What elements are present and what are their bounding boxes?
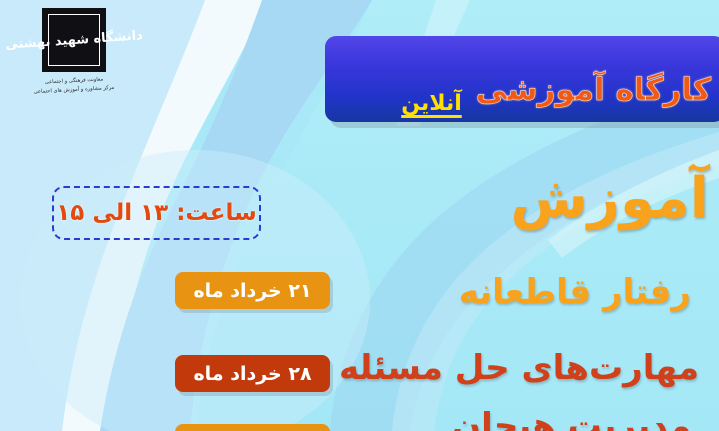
- university-logo-block: دانشگاه شهید بهشتی معاونت فرهنگی و اجتما…: [18, 8, 130, 94]
- banner-main-title: کارگاه آموزشی: [476, 72, 711, 108]
- workshop-poster: دانشگاه شهید بهشتی معاونت فرهنگی و اجتما…: [0, 0, 719, 431]
- university-seal-icon: دانشگاه شهید بهشتی: [42, 8, 106, 72]
- date-chip-2-label: ۲۸ خرداد ماه: [193, 363, 311, 385]
- time-label: ساعت: ۱۳ الی ۱۵: [56, 200, 257, 226]
- topic-heading-0: آموزش: [511, 166, 710, 231]
- seal-script-text: دانشگاه شهید بهشتی: [42, 8, 106, 72]
- topic-heading-3: مدیریت هیجان: [452, 406, 691, 431]
- banner-sub-title: آنلاین: [401, 91, 462, 116]
- topic-heading-2: مهارت‌های حل مسئله: [339, 348, 699, 388]
- date-chip-1: ۲۱ خرداد ماه: [175, 272, 330, 309]
- time-box: ساعت: ۱۳ الی ۱۵: [52, 186, 261, 240]
- date-chip-3: ۴ تیر ماه: [175, 424, 330, 431]
- date-chip-2: ۲۸ خرداد ماه: [175, 355, 330, 392]
- banner-text-row: کارگاه آموزشی آنلاین: [343, 72, 711, 108]
- title-banner: کارگاه آموزشی آنلاین: [325, 36, 719, 122]
- date-chip-1-label: ۲۱ خرداد ماه: [193, 280, 311, 302]
- topic-heading-1: رفتار قاطعانه: [459, 272, 691, 312]
